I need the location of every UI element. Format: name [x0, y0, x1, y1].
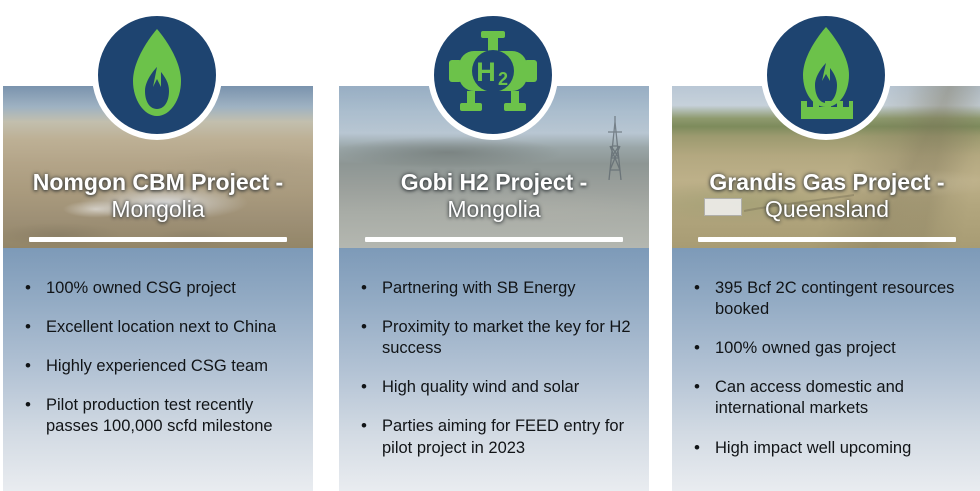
card-title-underline [698, 237, 956, 242]
card-title-line-1: Gobi H2 Project - [345, 169, 643, 197]
bullet-list-gobi: Partnering with SB Energy Proximity to m… [355, 278, 633, 459]
gas-burner-flame-icon [787, 25, 865, 126]
gas-flame-icon [120, 27, 194, 124]
badge-circle-nomgon [92, 10, 222, 140]
bullet-panel-nomgon: 100% owned CSG project Excellent locatio… [3, 248, 313, 491]
bullet-item: 395 Bcf 2C contingent resources booked [688, 278, 966, 320]
bullet-list-grandis: 395 Bcf 2C contingent resources booked 1… [688, 278, 966, 459]
bullet-item: 100% owned gas project [688, 338, 966, 359]
hydrogen-tank-icon: H 2 [445, 31, 541, 120]
card-title-nomgon: Nomgon CBM Project - Mongolia [3, 169, 313, 224]
bullet-item: Can access domestic and international ma… [688, 377, 966, 419]
bullet-item: High quality wind and solar [355, 377, 633, 398]
project-cards-deck: Nomgon CBM Project - Mongolia 100% owned… [0, 0, 980, 491]
bullet-item: High impact well upcoming [688, 438, 966, 459]
badge-circle-gobi: H 2 [428, 10, 558, 140]
card-title-line-1: Grandis Gas Project - [678, 169, 976, 197]
card-title-line-2: Mongolia [9, 196, 307, 224]
bullet-item: Parties aiming for FEED entry for pilot … [355, 416, 633, 458]
bullet-item: Highly experienced CSG team [19, 356, 297, 377]
bullet-panel-grandis: 395 Bcf 2C contingent resources booked 1… [672, 248, 980, 491]
card-title-underline [29, 237, 287, 242]
svg-text:2: 2 [498, 69, 508, 89]
card-title-gobi: Gobi H2 Project - Mongolia [339, 169, 649, 224]
bullet-item: 100% owned CSG project [19, 278, 297, 299]
card-title-line-2: Mongolia [345, 196, 643, 224]
card-title-underline [365, 237, 623, 242]
card-title-grandis: Grandis Gas Project - Queensland [672, 169, 980, 224]
bullet-item: Pilot production test recently passes 10… [19, 395, 297, 437]
card-title-line-1: Nomgon CBM Project - [9, 169, 307, 197]
project-card-gobi-h2-project[interactable]: Gobi H2 Project - Mongolia [339, 0, 647, 491]
project-card-grandis-gas-project[interactable]: Grandis Gas Project - Queensland 395 Bcf… [672, 0, 980, 491]
bullet-panel-gobi: Partnering with SB Energy Proximity to m… [339, 248, 649, 491]
bullet-item: Excellent location next to China [19, 317, 297, 338]
project-card-nomgon-cbm-project[interactable]: Nomgon CBM Project - Mongolia 100% owned… [3, 0, 311, 491]
bullet-item: Partnering with SB Energy [355, 278, 633, 299]
bullet-item: Proximity to market the key for H2 succe… [355, 317, 633, 359]
bullet-list-nomgon: 100% owned CSG project Excellent locatio… [19, 278, 297, 438]
svg-text:H: H [476, 57, 496, 87]
card-title-line-2: Queensland [678, 196, 976, 224]
badge-circle-grandis [761, 10, 891, 140]
